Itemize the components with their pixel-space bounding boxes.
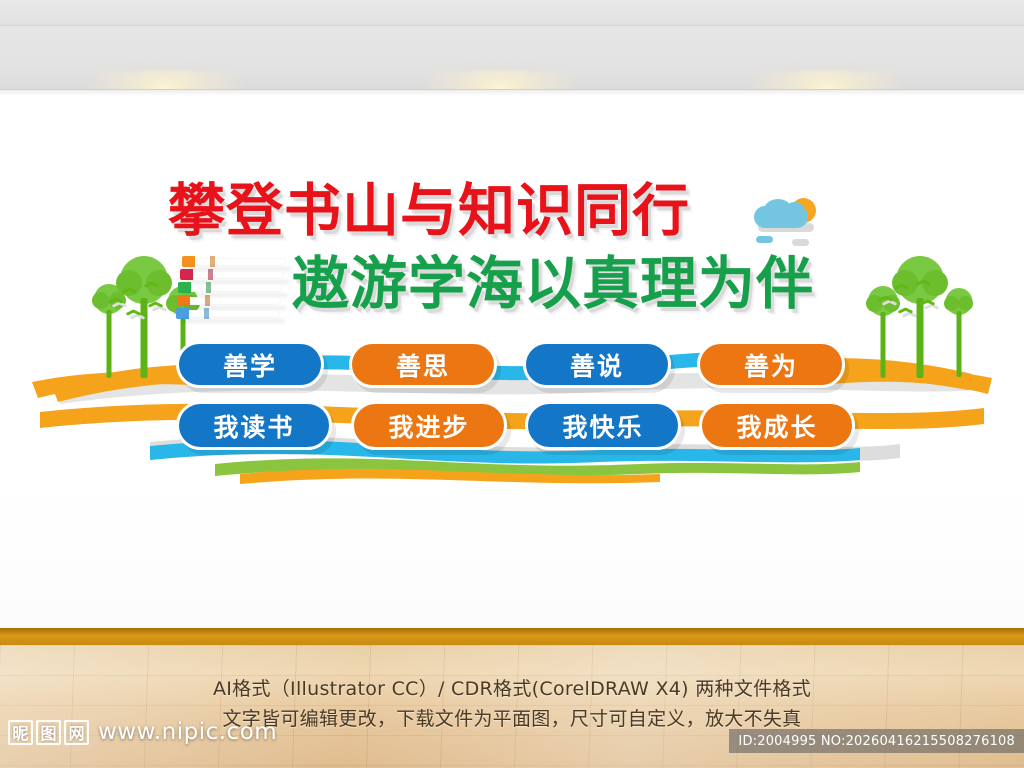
- watermark-logo-char-3: 网: [64, 720, 89, 745]
- watermark-logo-char-1: 昵: [8, 720, 33, 745]
- spotlight-glow: [420, 71, 580, 90]
- site-watermark: 昵 图 网 www.nipic.com: [8, 719, 277, 745]
- watermark-url: www.nipic.com: [98, 719, 277, 745]
- badge-label: 善为: [744, 347, 798, 383]
- badge-label: 我进步: [388, 408, 469, 444]
- headline-line-1: 攀登书山与知识同行: [168, 180, 690, 242]
- badge-wo-du-shu[interactable]: 我读书: [176, 401, 332, 450]
- asset-id-tag: ID:2004995 NO:20260416215508276108: [729, 729, 1024, 753]
- footer-format-line: AI格式（Illustrator CC）/ CDR格式(CorelDRAW X4…: [0, 674, 1024, 701]
- cloud-puff-right: [784, 202, 805, 221]
- room-scene: 攀登书山与知识同行 遨游学海以真理为伴 善学 善思 善说 善为 我读书 我进: [0, 0, 1024, 768]
- birds-right-group: [868, 276, 952, 322]
- mini-cloud-gray: [792, 239, 809, 246]
- birds-left-group: [100, 280, 184, 326]
- badge-shan-si[interactable]: 善思: [349, 341, 497, 388]
- book-stack-icon: [176, 256, 288, 322]
- mini-cloud-blue: [756, 236, 773, 243]
- bird-icon: [144, 280, 159, 289]
- watermark-logo-char-2: 图: [36, 720, 61, 745]
- badge-wo-jin-bu[interactable]: 我进步: [351, 401, 507, 450]
- badge-shan-shuo[interactable]: 善说: [523, 341, 671, 388]
- spotlight-right: [766, 44, 886, 90]
- spotlight-center: [440, 44, 560, 90]
- badge-wo-cheng-zhang[interactable]: 我成长: [699, 401, 855, 450]
- bird-icon: [898, 306, 913, 315]
- wall-culture-graphic: [0, 90, 1024, 628]
- badge-label: 我快乐: [562, 408, 643, 444]
- badge-wo-kuai-le[interactable]: 我快乐: [525, 401, 681, 450]
- bird-icon: [878, 294, 893, 303]
- spotlight-glow: [746, 71, 906, 90]
- floor-skirting: [0, 628, 1024, 645]
- bird-icon: [894, 282, 909, 291]
- spotlight-left: [105, 44, 225, 90]
- badge-label: 我成长: [736, 408, 817, 444]
- bird-icon: [126, 308, 141, 317]
- spotlight-glow: [85, 71, 245, 90]
- bird-icon: [108, 296, 123, 305]
- bird-icon: [920, 298, 935, 307]
- badge-label: 善学: [223, 347, 277, 383]
- bird-icon: [148, 300, 163, 309]
- headline-line-2: 遨游学海以真理为伴: [292, 253, 814, 315]
- watermark-logo: 昵 图 网: [8, 720, 89, 745]
- badge-label: 善思: [396, 347, 450, 383]
- ceiling-light-band: [0, 26, 1024, 90]
- cloud-sun-icon: [748, 196, 822, 248]
- bird-icon: [122, 286, 137, 295]
- bird-icon: [916, 278, 931, 287]
- ceiling-upper: [0, 0, 1024, 26]
- badge-shan-xue[interactable]: 善学: [176, 341, 324, 388]
- badge-label: 我读书: [213, 408, 294, 444]
- badge-shan-wei[interactable]: 善为: [697, 341, 845, 388]
- badge-label: 善说: [570, 347, 624, 383]
